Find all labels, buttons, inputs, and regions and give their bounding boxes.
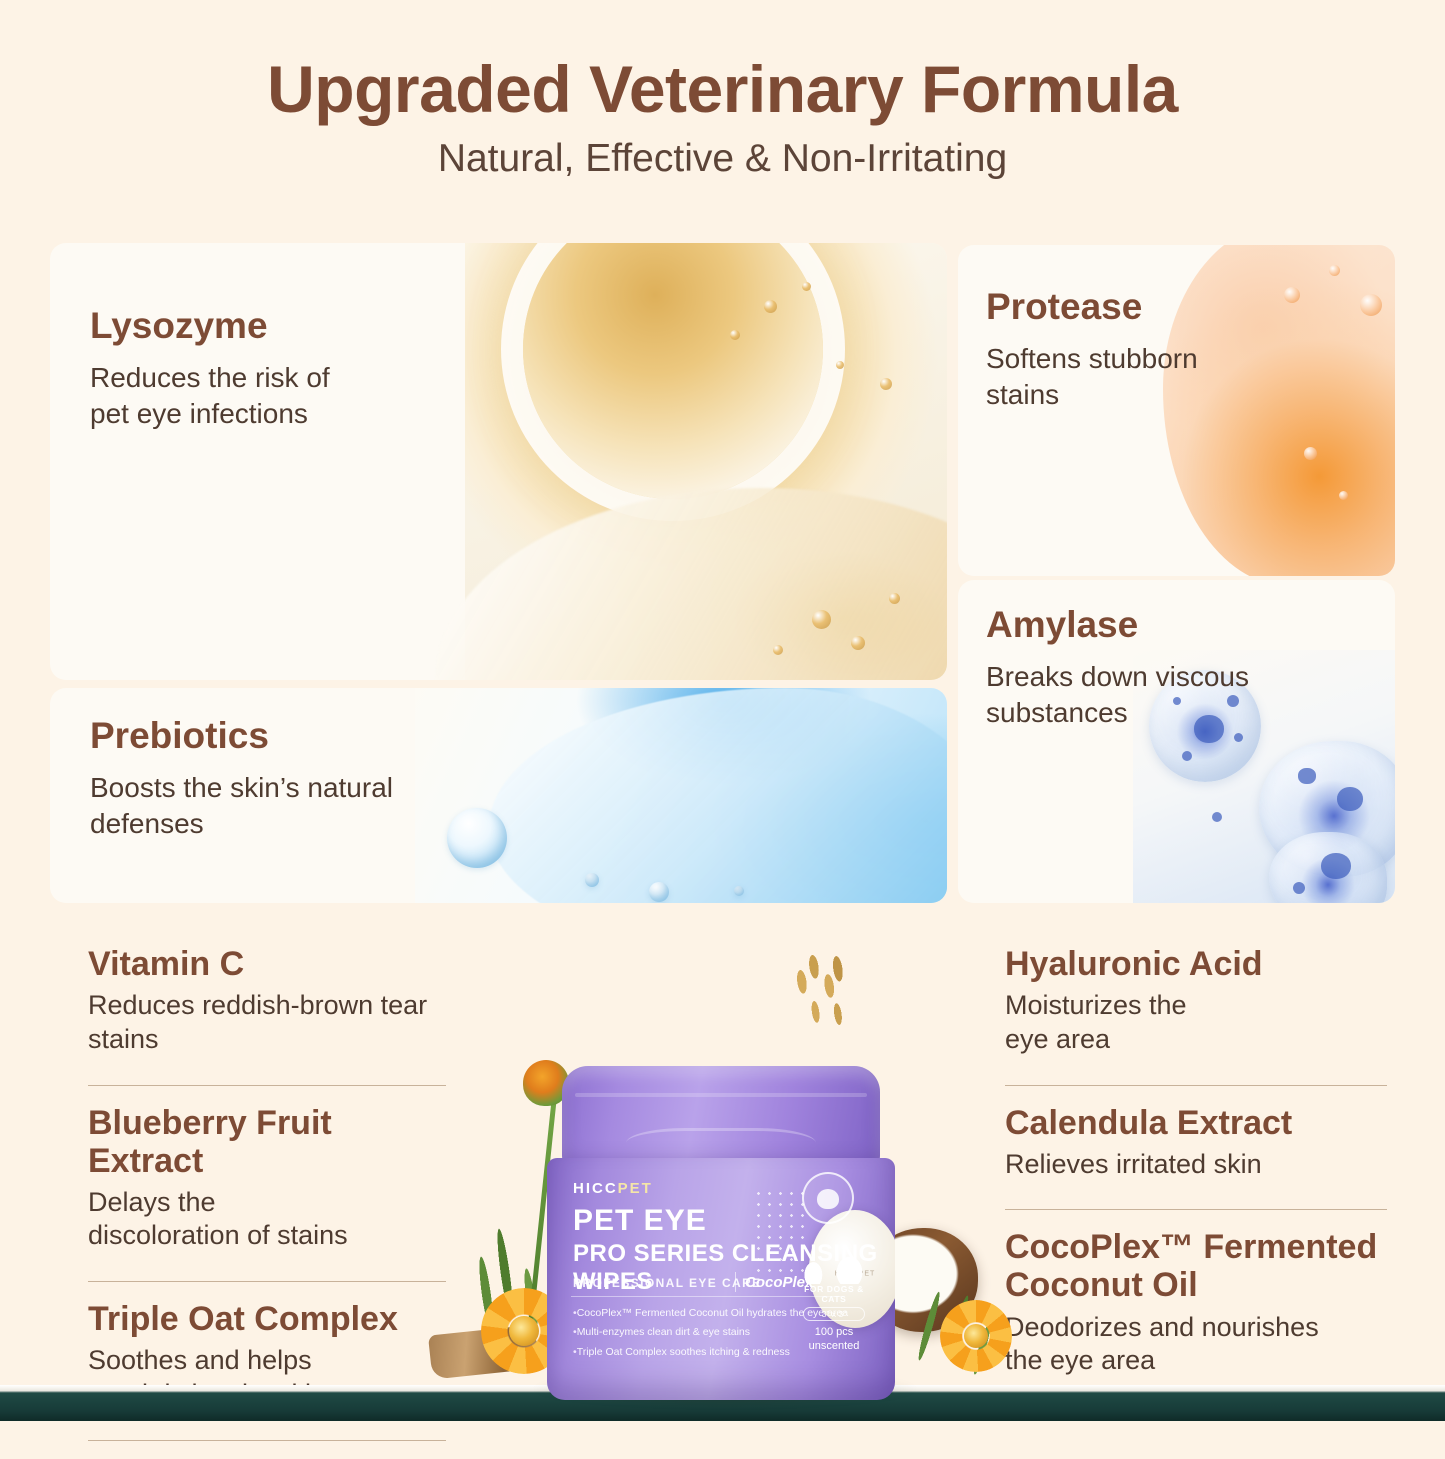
desc-line-2: eye area — [1005, 1024, 1110, 1054]
desc-line-1: Delays the — [88, 1187, 216, 1217]
desc-line-1: Reduces reddish-brown tear — [88, 990, 427, 1020]
product-jar: HICC PET HICCPET PET EYE PRO SERIES CLEA… — [505, 1040, 935, 1400]
brand-suffix: PET — [618, 1180, 653, 1197]
ingredient-list-right: Hyaluronic Acid Moisturizes the eye area… — [1005, 945, 1387, 1425]
jar-lid — [562, 1066, 880, 1170]
desc-line-2: stains — [88, 1024, 159, 1054]
desc-line-1: Softens stubborn — [986, 343, 1198, 374]
ingredient-desc: Deodorizes and nourishes the eye area — [1005, 1311, 1387, 1379]
ingredient-item: Calendula Extract Relieves irritated ski… — [1005, 1104, 1387, 1196]
ingredient-item: CocoPlex™ Fermented Coconut Oil Deodoriz… — [1005, 1228, 1387, 1392]
desc-line-1: Reduces the risk of — [90, 362, 330, 393]
ingredient-name: Hyaluronic Acid — [1005, 945, 1387, 983]
feature-card-protease: Protease Softens stubborn stains — [958, 245, 1395, 576]
ingredient-name: CocoPlex™ Fermented Coconut Oil — [1005, 1228, 1387, 1304]
product-tagline: PROFESSIONAL EYE CARE — [573, 1276, 762, 1290]
feature-card-desc: Softens stubborn stains — [986, 341, 1395, 413]
ingredient-name: Calendula Extract — [1005, 1104, 1387, 1142]
page-title: Upgraded Veterinary Formula — [0, 55, 1445, 124]
header: Upgraded Veterinary Formula Natural, Eff… — [0, 55, 1445, 181]
cat-dog-silhouette-icon — [791, 1254, 877, 1284]
desc-line-2: discoloration of stains — [88, 1220, 348, 1250]
desc-line-1: Boosts the skin’s natural — [90, 772, 393, 803]
page-subtitle: Natural, Effective & Non-Irritating — [0, 138, 1445, 181]
ingredient-name: Blueberry Fruit Extract — [88, 1104, 446, 1180]
feature-card-title: Prebiotics — [90, 716, 947, 757]
feature-card-lysozyme: Lysozyme Reduces the risk of pet eye inf… — [50, 243, 947, 680]
ingredient-item: Blueberry Fruit Extract Delays the disco… — [88, 1104, 446, 1268]
feature-card-title: Protease — [986, 287, 1395, 328]
desc-line-2: the eye area — [1005, 1345, 1155, 1375]
brand-prefix: HICC — [573, 1180, 618, 1197]
ingredient-name: Vitamin C — [88, 945, 446, 983]
brand-logo: HICCPET — [573, 1180, 653, 1197]
ingredient-desc: Moisturizes the eye area — [1005, 989, 1387, 1057]
feature-card-desc: Reduces the risk of pet eye infections — [90, 360, 947, 432]
count-value: 100 pcs — [815, 1326, 854, 1338]
pet-info-block: FOR DOGS & CATS 3" x 3" 100 pcs unscente… — [791, 1254, 877, 1354]
desc-line-1: Breaks down viscous — [986, 661, 1249, 692]
feature-card-prebiotics: Prebiotics Boosts the skin’s natural def… — [50, 688, 947, 903]
divider — [88, 1281, 446, 1282]
ingredient-item: Hyaluronic Acid Moisturizes the eye area — [1005, 945, 1387, 1071]
product-name: PET EYE — [573, 1204, 707, 1238]
ingredient-name: Triple Oat Complex — [88, 1300, 446, 1338]
desc-line-1: Moisturizes the — [1005, 990, 1187, 1020]
feature-card-title: Amylase — [986, 605, 1395, 646]
ingredient-list-left: Vitamin C Reduces reddish-brown tear sta… — [88, 945, 446, 1459]
desc-line-1: Deodorizes and nourishes — [1005, 1312, 1319, 1342]
desc-line-2: defenses — [90, 808, 204, 839]
feature-card-title: Lysozyme — [90, 306, 947, 347]
for-pets-label: FOR DOGS & CATS — [791, 1284, 877, 1304]
ingredient-desc: Reduces reddish-brown tear stains — [88, 989, 446, 1057]
divider — [1005, 1209, 1387, 1210]
label-divider — [735, 1272, 736, 1292]
wipe-size-label: 3" x 3" — [803, 1307, 865, 1321]
ingredient-desc: Delays the discoloration of stains — [88, 1186, 446, 1254]
desc-line-2: substances — [986, 697, 1128, 728]
desc-line-2: pet eye infections — [90, 398, 308, 429]
wipe-count-label: 100 pcs unscented — [791, 1325, 877, 1354]
jar-body: HICC PET HICCPET PET EYE PRO SERIES CLEA… — [547, 1158, 895, 1400]
feature-card-amylase: Amylase Breaks down viscous substances — [958, 580, 1395, 903]
certification-badge-icon — [802, 1172, 854, 1224]
marigold-flower-small-icon — [940, 1300, 1012, 1372]
ingredient-item: Vitamin C Reduces reddish-brown tear sta… — [88, 945, 446, 1071]
desc-line-1: Soothes and helps — [88, 1345, 312, 1375]
divider — [1005, 1085, 1387, 1086]
ingredient-desc: Relieves irritated skin — [1005, 1148, 1387, 1182]
divider — [88, 1085, 446, 1086]
scent-value: unscented — [809, 1340, 860, 1352]
divider — [88, 1440, 446, 1441]
desc-line-2: stains — [986, 379, 1059, 410]
feature-card-desc: Breaks down viscous substances — [986, 659, 1395, 731]
feature-card-desc: Boosts the skin’s natural defenses — [90, 770, 947, 842]
